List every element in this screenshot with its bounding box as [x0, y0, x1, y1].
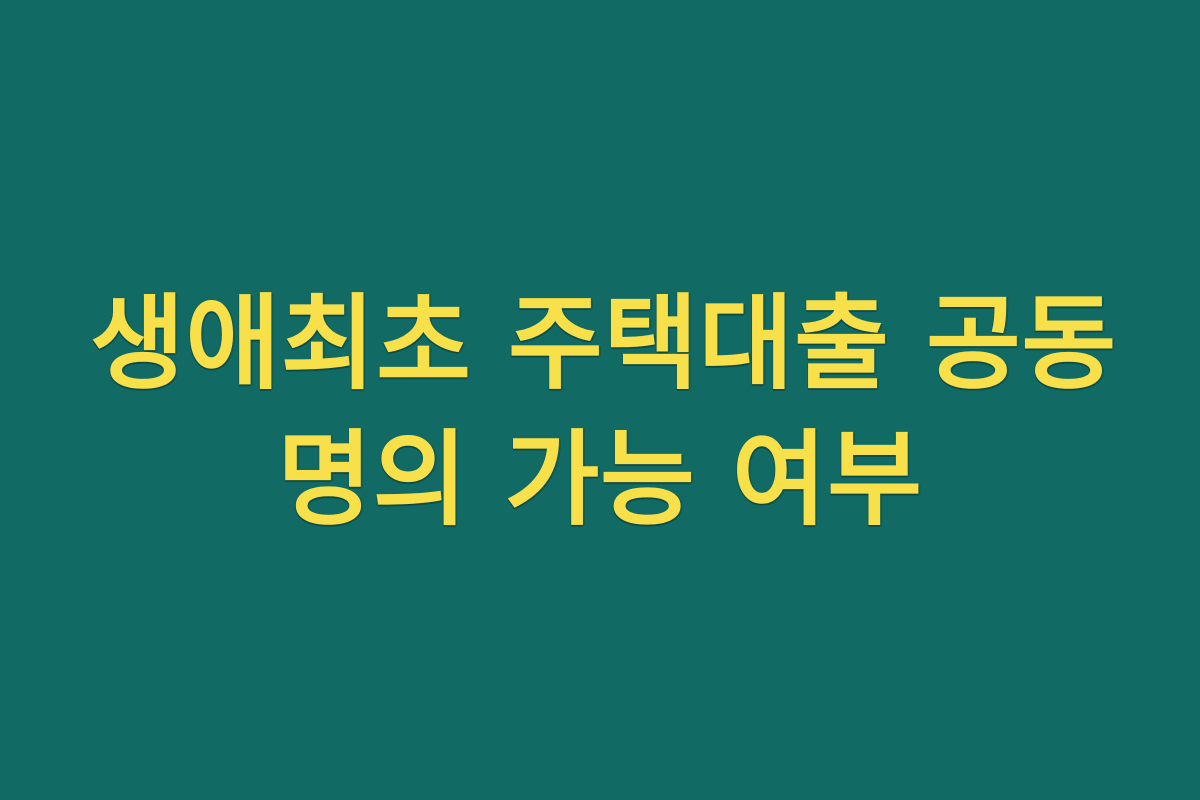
thumbnail-canvas: 생애최초 주택대출 공동 명의 가능 여부 [0, 0, 1200, 800]
title-block: 생애최초 주택대출 공동 명의 가능 여부 [70, 277, 1130, 549]
title-line-1: 생애최초 주택대출 공동 [90, 277, 1110, 413]
title-line-2: 명의 가능 여부 [90, 413, 1110, 549]
